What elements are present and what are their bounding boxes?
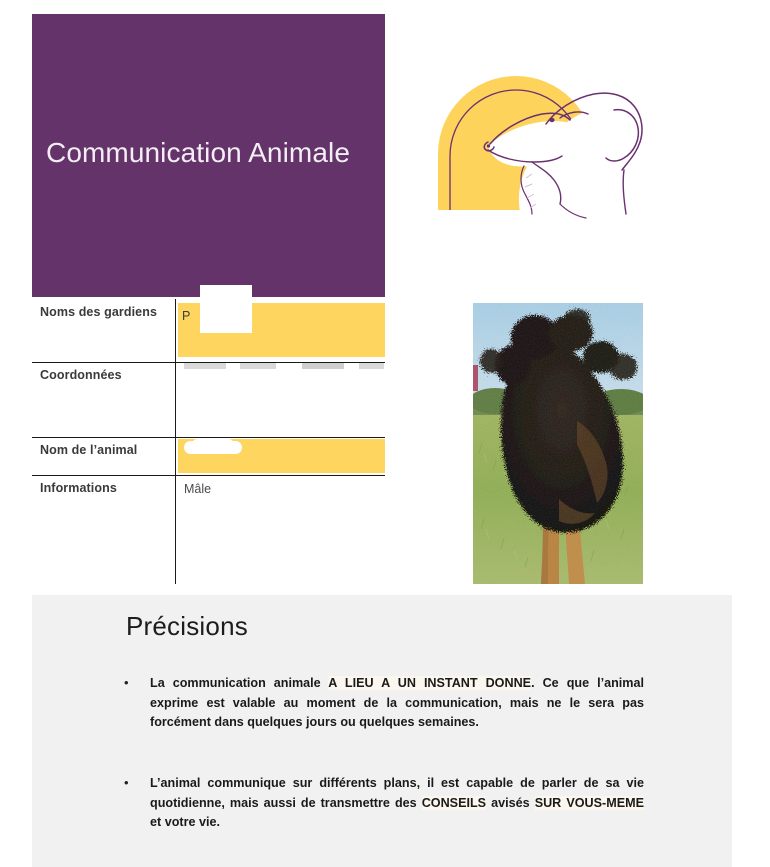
precisions-heading: Précisions	[126, 611, 248, 642]
bullet-text-2: L’animal communique sur différents plans…	[150, 774, 644, 833]
list-item: • La communication animale A LIEU A UN I…	[124, 674, 644, 733]
bullet-marker: •	[124, 776, 129, 789]
table-row: Coordonnées	[32, 362, 385, 437]
table-label-gardiens: Noms des gardiens	[40, 305, 157, 319]
precisions-panel: Précisions • La communication animale A …	[32, 595, 732, 867]
table-cell-value-partial: P	[182, 309, 190, 323]
bullet-1-seg-0: La communication animale	[150, 676, 328, 690]
bullet-marker: •	[124, 676, 129, 689]
table-label-nom-animal: Nom de l’animal	[40, 443, 137, 457]
bullet-text-1: La communication animale A LIEU A UN INS…	[150, 674, 644, 733]
redaction-block	[200, 285, 252, 333]
page-title: Communication Animale	[46, 138, 386, 169]
bullet-1-seg-1-highlight: A LIEU A UN INSTANT DONNE	[328, 676, 531, 690]
bullet-2-seg-1-highlight: CONSEILS	[422, 796, 486, 810]
table-row: P Noms des gardiens	[32, 299, 385, 362]
table-row: Informations Mâle	[32, 475, 385, 584]
redacted-ghost-text	[184, 363, 384, 369]
info-table: P Noms des gardiens Coordonnées Nom de l…	[32, 299, 385, 584]
table-row: Nom de l’animal	[32, 437, 385, 475]
list-item: • L’animal communique sur différents pla…	[124, 774, 644, 833]
table-label-coordonnees: Coordonnées	[40, 368, 122, 382]
row-divider	[32, 475, 385, 476]
row-divider	[32, 437, 385, 438]
table-cell-value-informations: Mâle	[184, 482, 211, 496]
dog-head-logo	[428, 62, 688, 222]
title-banner: Communication Animale	[32, 14, 385, 297]
redaction-block	[192, 439, 234, 450]
dog-photograph	[473, 303, 643, 584]
table-label-informations: Informations	[40, 481, 117, 495]
bullet-2-seg-3-highlight: SUR VOUS-MEME	[535, 796, 644, 810]
bullet-2-seg-4: et votre vie.	[150, 815, 220, 829]
bullet-2-seg-2: avisés	[486, 796, 535, 810]
